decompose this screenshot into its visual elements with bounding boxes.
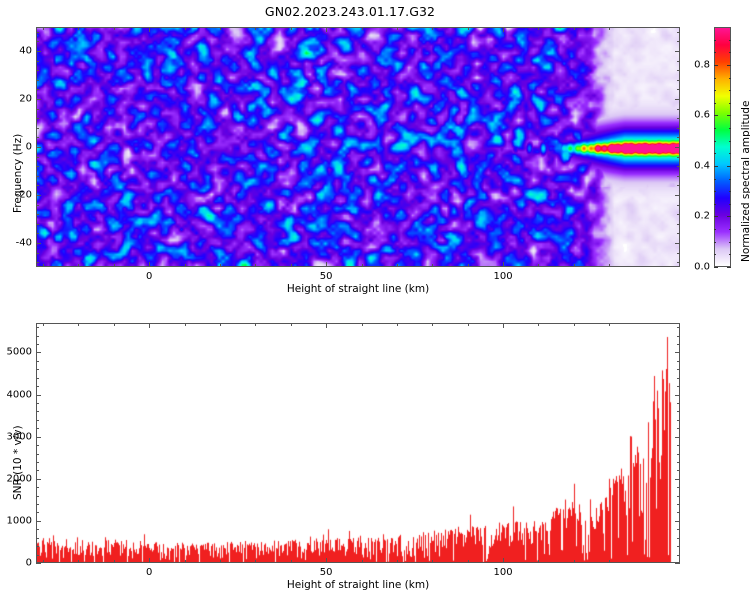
- y-tick-minor: [36, 428, 39, 429]
- x-tick-minor: [43, 27, 44, 30]
- y-tick-minor: [677, 253, 680, 254]
- x-tick-minor: [468, 560, 469, 563]
- y-tick-minor: [36, 128, 39, 129]
- x-tick-label: 100: [483, 567, 523, 578]
- y-tick-minor: [677, 70, 680, 71]
- page-title: GN02.2023.243.01.17.G32: [0, 4, 700, 19]
- y-tick-minor: [677, 176, 680, 177]
- x-tick-minor: [255, 264, 256, 267]
- x-tick-major: [149, 27, 150, 32]
- y-tick-minor: [36, 166, 39, 167]
- y-tick-minor: [677, 454, 680, 455]
- x-tick-minor: [78, 27, 79, 30]
- snr-x-axis-title: Height of straight line (km): [287, 579, 429, 591]
- y-tick-major: [675, 352, 680, 353]
- colorbar-title: Normalized spectral amplitude: [740, 101, 750, 262]
- y-tick-minor: [36, 496, 39, 497]
- y-tick-minor: [677, 555, 680, 556]
- spectrogram-plot-area[interactable]: [36, 27, 680, 267]
- y-tick-minor: [36, 420, 39, 421]
- y-tick-minor: [677, 512, 680, 513]
- x-tick-minor: [43, 560, 44, 563]
- y-tick-minor: [677, 205, 680, 206]
- snr-trace: [37, 324, 680, 563]
- x-tick-minor: [432, 323, 433, 326]
- y-tick-minor: [36, 361, 39, 362]
- colorbar-tick-minor: [729, 204, 731, 205]
- x-tick-major: [149, 323, 150, 328]
- y-tick-minor: [677, 462, 680, 463]
- colorbar-tick-minor: [714, 254, 716, 255]
- y-tick-minor: [36, 504, 39, 505]
- y-tick-minor: [36, 176, 39, 177]
- y-tick-major: [675, 479, 680, 480]
- y-tick-minor: [36, 32, 39, 33]
- x-tick-major: [503, 262, 504, 267]
- y-tick-major: [675, 563, 680, 564]
- colorbar-tick-label: 0.8: [684, 59, 710, 70]
- x-tick-minor: [397, 560, 398, 563]
- y-tick-major: [36, 395, 41, 396]
- x-tick-minor: [362, 264, 363, 267]
- x-tick-minor: [114, 560, 115, 563]
- y-tick-minor: [677, 504, 680, 505]
- y-tick-minor: [677, 336, 680, 337]
- y-tick-major: [675, 243, 680, 244]
- y-tick-major: [675, 51, 680, 52]
- y-tick-major: [36, 51, 41, 52]
- y-tick-minor: [36, 470, 39, 471]
- y-tick-minor: [36, 70, 39, 71]
- colorbar-tick-minor: [729, 52, 731, 53]
- x-tick-major: [326, 262, 327, 267]
- colorbar-tick-minor: [714, 103, 716, 104]
- y-tick-minor: [677, 420, 680, 421]
- y-tick-minor: [677, 109, 680, 110]
- y-tick-label: 5000: [2, 347, 32, 358]
- y-tick-minor: [677, 496, 680, 497]
- colorbar-tick-label: 0.4: [684, 160, 710, 171]
- y-tick-minor: [677, 428, 680, 429]
- y-tick-minor: [36, 262, 39, 263]
- y-tick-minor: [677, 128, 680, 129]
- y-tick-minor: [36, 538, 39, 539]
- x-tick-minor: [609, 264, 610, 267]
- x-tick-major: [326, 558, 327, 563]
- y-tick-label: 40: [2, 46, 32, 57]
- y-tick-minor: [36, 224, 39, 225]
- y-tick-major: [36, 479, 41, 480]
- colorbar[interactable]: [714, 27, 731, 267]
- x-tick-minor: [255, 560, 256, 563]
- x-tick-minor: [397, 264, 398, 267]
- x-tick-minor: [609, 27, 610, 30]
- y-tick-minor: [36, 445, 39, 446]
- colorbar-tick: [714, 166, 718, 167]
- x-tick-major: [503, 27, 504, 32]
- spectrogram-image: [37, 28, 680, 267]
- y-tick-minor: [36, 205, 39, 206]
- y-tick-minor: [677, 546, 680, 547]
- x-tick-minor: [185, 560, 186, 563]
- x-tick-minor: [538, 560, 539, 563]
- y-tick-minor: [677, 214, 680, 215]
- y-tick-major: [36, 521, 41, 522]
- y-tick-minor: [36, 327, 39, 328]
- y-tick-major: [675, 521, 680, 522]
- y-tick-minor: [677, 224, 680, 225]
- y-tick-minor: [677, 118, 680, 119]
- y-tick-minor: [677, 233, 680, 234]
- figure-root: GN02.2023.243.01.17.G32 40200-20-4005010…: [0, 0, 750, 600]
- x-tick-minor: [362, 323, 363, 326]
- x-tick-minor: [291, 323, 292, 326]
- spectrogram-x-axis-title: Height of straight line (km): [287, 283, 429, 295]
- snr-y-axis-title: SNR (10 * v/v): [12, 425, 24, 500]
- y-tick-minor: [36, 555, 39, 556]
- y-tick-minor: [36, 462, 39, 463]
- x-tick-label: 0: [129, 271, 169, 282]
- colorbar-tick-minor: [714, 40, 716, 41]
- y-tick-minor: [36, 109, 39, 110]
- colorbar-tick: [727, 65, 731, 66]
- x-tick-minor: [609, 323, 610, 326]
- colorbar-tick-minor: [729, 78, 731, 79]
- y-tick-label: 1000: [2, 515, 32, 526]
- y-tick-minor: [36, 386, 39, 387]
- colorbar-tick-minor: [729, 153, 731, 154]
- x-tick-major: [326, 27, 327, 32]
- x-tick-minor: [220, 560, 221, 563]
- x-tick-minor: [78, 560, 79, 563]
- x-tick-label: 50: [306, 567, 346, 578]
- y-tick-minor: [677, 529, 680, 530]
- y-tick-minor: [677, 41, 680, 42]
- y-tick-major: [675, 437, 680, 438]
- spectrogram-y-axis-title: Frequency (Hz): [12, 134, 24, 213]
- y-tick-minor: [36, 529, 39, 530]
- snr-plot-area[interactable]: [36, 323, 680, 563]
- x-tick-minor: [397, 27, 398, 30]
- x-tick-label: 0: [129, 567, 169, 578]
- x-tick-minor: [397, 323, 398, 326]
- colorbar-tick-minor: [714, 191, 716, 192]
- y-tick-minor: [36, 369, 39, 370]
- x-tick-minor: [574, 323, 575, 326]
- colorbar-tick: [714, 65, 718, 66]
- y-tick-minor: [36, 512, 39, 513]
- y-tick-minor: [36, 487, 39, 488]
- x-tick-minor: [468, 27, 469, 30]
- y-tick-minor: [36, 185, 39, 186]
- y-tick-minor: [36, 41, 39, 42]
- x-tick-minor: [362, 560, 363, 563]
- colorbar-tick: [727, 166, 731, 167]
- colorbar-tick: [714, 216, 718, 217]
- x-tick-minor: [255, 27, 256, 30]
- y-tick-minor: [36, 454, 39, 455]
- colorbar-tick-minor: [729, 128, 731, 129]
- colorbar-tick-minor: [714, 153, 716, 154]
- colorbar-tick-minor: [729, 229, 731, 230]
- colorbar-tick-minor: [729, 242, 731, 243]
- y-tick-minor: [677, 386, 680, 387]
- x-tick-major: [503, 558, 504, 563]
- y-tick-label: 4000: [2, 389, 32, 400]
- y-tick-minor: [36, 89, 39, 90]
- x-tick-label: 100: [483, 271, 523, 282]
- x-tick-minor: [78, 264, 79, 267]
- y-tick-minor: [677, 327, 680, 328]
- colorbar-tick-minor: [729, 141, 731, 142]
- y-tick-minor: [677, 411, 680, 412]
- x-tick-minor: [291, 560, 292, 563]
- y-tick-label: -40: [2, 238, 32, 249]
- x-tick-minor: [114, 323, 115, 326]
- colorbar-tick-minor: [729, 90, 731, 91]
- y-tick-minor: [36, 214, 39, 215]
- colorbar-tick-minor: [729, 103, 731, 104]
- y-tick-minor: [677, 32, 680, 33]
- y-tick-minor: [36, 546, 39, 547]
- y-tick-minor: [677, 137, 680, 138]
- x-tick-minor: [78, 323, 79, 326]
- colorbar-tick: [714, 267, 718, 268]
- y-tick-minor: [36, 253, 39, 254]
- colorbar-tick-label: 0.0: [684, 262, 710, 273]
- y-tick-major: [675, 195, 680, 196]
- colorbar-tick-label: 0.2: [684, 211, 710, 222]
- y-tick-major: [36, 243, 41, 244]
- x-tick-minor: [255, 323, 256, 326]
- y-tick-minor: [677, 369, 680, 370]
- x-tick-minor: [291, 264, 292, 267]
- y-tick-major: [36, 195, 41, 196]
- x-tick-minor: [538, 264, 539, 267]
- y-tick-minor: [677, 445, 680, 446]
- x-tick-minor: [432, 27, 433, 30]
- x-tick-minor: [43, 323, 44, 326]
- colorbar-tick-minor: [714, 179, 716, 180]
- colorbar-tick-minor: [729, 179, 731, 180]
- y-tick-major: [675, 99, 680, 100]
- y-tick-major: [36, 352, 41, 353]
- y-tick-major: [36, 437, 41, 438]
- x-tick-major: [149, 262, 150, 267]
- x-tick-minor: [468, 264, 469, 267]
- y-tick-minor: [677, 262, 680, 263]
- y-tick-major: [675, 395, 680, 396]
- colorbar-tick: [727, 216, 731, 217]
- colorbar-tick-label: 0.6: [684, 110, 710, 121]
- y-tick-minor: [677, 157, 680, 158]
- colorbar-tick: [727, 115, 731, 116]
- colorbar-tick-minor: [714, 141, 716, 142]
- x-tick-minor: [43, 264, 44, 267]
- y-tick-minor: [36, 233, 39, 234]
- colorbar-tick-minor: [714, 52, 716, 53]
- x-tick-major: [326, 323, 327, 328]
- y-tick-minor: [36, 137, 39, 138]
- y-tick-minor: [677, 487, 680, 488]
- y-tick-minor: [36, 157, 39, 158]
- colorbar-tick: [714, 115, 718, 116]
- colorbar-tick-minor: [729, 191, 731, 192]
- x-tick-minor: [574, 560, 575, 563]
- x-tick-minor: [432, 264, 433, 267]
- x-tick-minor: [220, 323, 221, 326]
- x-tick-minor: [609, 560, 610, 563]
- colorbar-tick: [727, 267, 731, 268]
- y-tick-minor: [677, 344, 680, 345]
- y-tick-major: [36, 147, 41, 148]
- y-tick-minor: [677, 80, 680, 81]
- x-tick-minor: [185, 323, 186, 326]
- y-tick-minor: [36, 411, 39, 412]
- y-tick-minor: [677, 361, 680, 362]
- x-tick-minor: [538, 27, 539, 30]
- y-tick-minor: [36, 118, 39, 119]
- x-tick-minor: [114, 27, 115, 30]
- y-tick-minor: [36, 378, 39, 379]
- x-tick-minor: [574, 27, 575, 30]
- y-tick-minor: [36, 336, 39, 337]
- y-tick-minor: [677, 403, 680, 404]
- x-tick-minor: [538, 323, 539, 326]
- x-tick-major: [503, 323, 504, 328]
- y-tick-major: [36, 563, 41, 564]
- x-tick-minor: [185, 27, 186, 30]
- x-tick-minor: [468, 323, 469, 326]
- y-tick-label: 0: [2, 558, 32, 569]
- colorbar-tick-minor: [714, 90, 716, 91]
- x-tick-minor: [185, 264, 186, 267]
- y-tick-minor: [677, 89, 680, 90]
- x-tick-minor: [114, 264, 115, 267]
- y-tick-minor: [36, 403, 39, 404]
- x-tick-minor: [432, 560, 433, 563]
- y-tick-minor: [36, 61, 39, 62]
- y-tick-minor: [677, 166, 680, 167]
- colorbar-tick-minor: [714, 128, 716, 129]
- y-tick-minor: [677, 470, 680, 471]
- x-tick-minor: [574, 264, 575, 267]
- x-tick-major: [149, 558, 150, 563]
- y-tick-minor: [677, 185, 680, 186]
- x-tick-minor: [220, 264, 221, 267]
- y-tick-major: [36, 99, 41, 100]
- y-tick-minor: [677, 61, 680, 62]
- x-tick-minor: [220, 27, 221, 30]
- colorbar-tick-minor: [714, 204, 716, 205]
- colorbar-tick-minor: [714, 229, 716, 230]
- y-tick-minor: [677, 538, 680, 539]
- y-tick-major: [675, 147, 680, 148]
- y-tick-minor: [36, 344, 39, 345]
- colorbar-tick-minor: [714, 78, 716, 79]
- y-tick-minor: [36, 80, 39, 81]
- colorbar-tick-minor: [729, 254, 731, 255]
- y-tick-label: 20: [2, 94, 32, 105]
- colorbar-tick-minor: [729, 40, 731, 41]
- y-tick-minor: [677, 378, 680, 379]
- x-tick-minor: [291, 27, 292, 30]
- x-tick-label: 50: [306, 271, 346, 282]
- x-tick-minor: [362, 27, 363, 30]
- colorbar-tick-minor: [714, 242, 716, 243]
